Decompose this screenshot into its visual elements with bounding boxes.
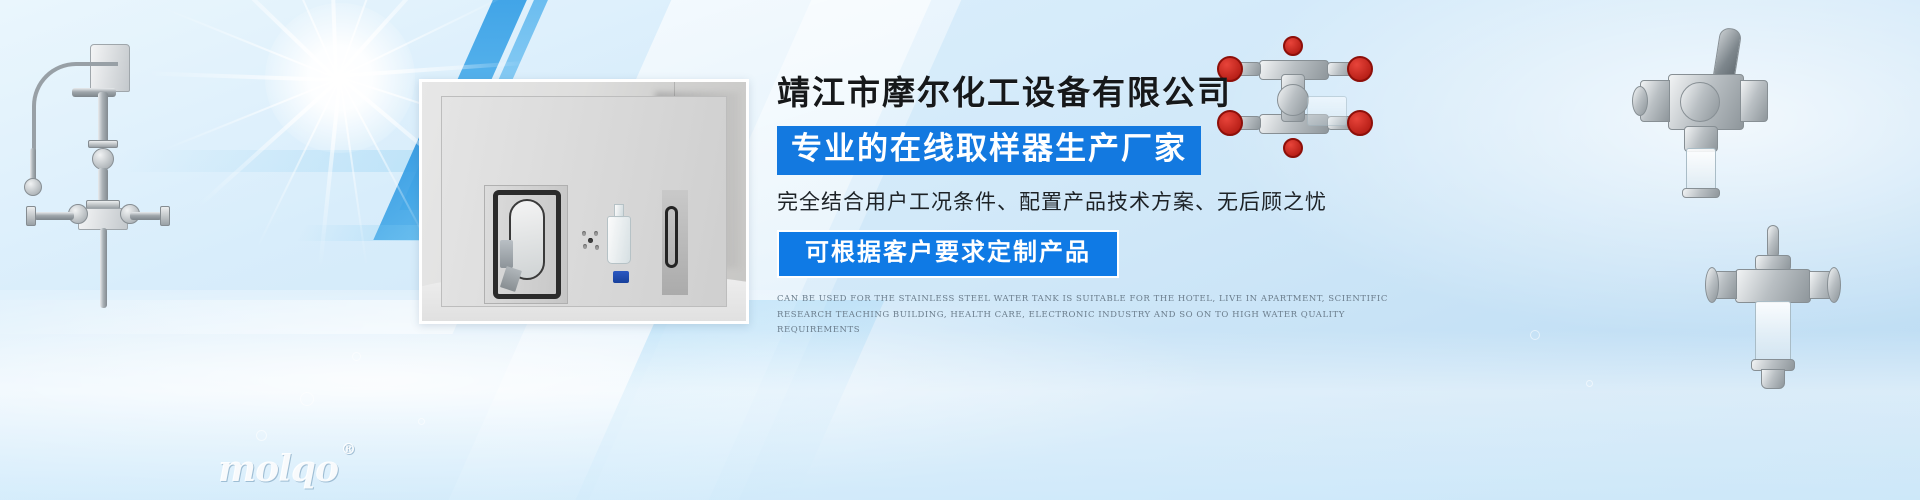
lever-valve-illustration: [1630, 28, 1780, 228]
bubble-decoration: [256, 430, 267, 441]
english-description: CAN BE USED FOR THE STAINLESS STEEL WATE…: [777, 292, 1389, 339]
watermark-text: molqo: [218, 448, 338, 490]
bubble-decoration: [1530, 330, 1540, 340]
tagline-highlight: 专业的在线取样器生产厂家: [777, 126, 1201, 175]
blue-bottle-cap-icon: [613, 271, 629, 283]
brand-watermark: molqo®: [218, 448, 355, 490]
red-handwheel-icon: [1283, 36, 1303, 56]
banner-copy-block: 靖江市摩尔化工设备有限公司 专业的在线取样器生产厂家 完全结合用户工况条件、配置…: [777, 74, 1417, 339]
bubble-decoration: [418, 418, 425, 425]
bubble-decoration: [300, 392, 314, 406]
company-title: 靖江市摩尔化工设备有限公司: [777, 74, 1417, 112]
left-equipment-illustration: [12, 28, 182, 318]
bubble-decoration: [352, 352, 361, 361]
sub-description: 完全结合用户工况条件、配置产品技术方案、无后顾之忧: [777, 189, 1417, 216]
inline-sight-glass-valve-illustration: [1705, 225, 1845, 410]
registered-mark-icon: ®: [341, 440, 355, 458]
promo-banner: 靖江市摩尔化工设备有限公司 专业的在线取样器生产厂家 完全结合用户工况条件、配置…: [0, 0, 1920, 500]
bubble-decoration: [1586, 380, 1593, 387]
product-photo: [419, 79, 749, 324]
custom-product-pill: 可根据客户要求定制产品: [777, 230, 1119, 278]
